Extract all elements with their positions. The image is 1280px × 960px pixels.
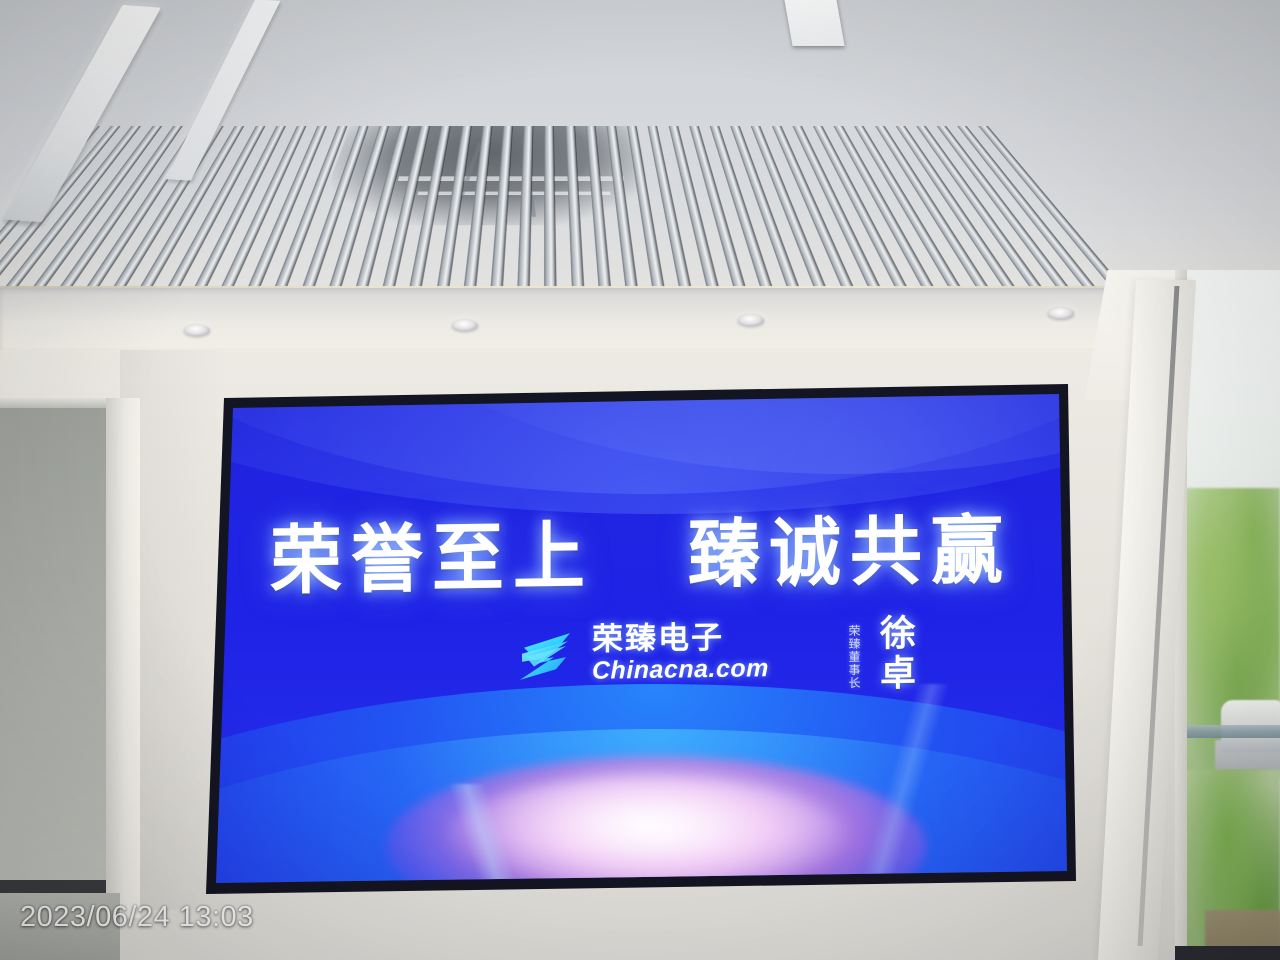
signature-title: 荣臻董事长 — [846, 624, 863, 689]
doorway-header — [0, 398, 120, 408]
chairman-signature: 荣臻董事长 徐卓 — [846, 613, 921, 694]
recessed-downlight-icon — [184, 325, 210, 336]
chinacna-z-mark-icon — [516, 623, 578, 686]
slogan-right: 臻诚共赢 — [688, 509, 1012, 597]
ceiling-duct — [417, 192, 610, 195]
screen-slogan: 荣誉至上 臻诚共赢 — [206, 487, 1076, 609]
doorway-jamb — [106, 398, 140, 918]
ceiling-soffit — [0, 288, 1180, 350]
window-sill — [1175, 946, 1280, 960]
ceiling — [0, 0, 1280, 300]
ceiling-panel-icon — [783, 0, 844, 46]
window-mullion — [1175, 725, 1280, 738]
brand-lockup: 荣臻电子 Chinacna.com — [516, 620, 769, 686]
slogan-left: 荣誉至上 — [270, 515, 594, 603]
recessed-downlight-icon — [738, 315, 764, 326]
recessed-downlight-icon — [452, 320, 478, 331]
brand-name-cn: 荣臻电子 — [592, 621, 769, 655]
brand-text: 荣臻电子 Chinacna.com — [592, 621, 769, 684]
photo-timestamp: 2023/06/24 13:03 — [20, 901, 254, 934]
slogan-gap — [621, 581, 661, 582]
photo-scene: 荣誉至上 臻诚共赢 — [0, 0, 1280, 960]
screen-face: 荣誉至上 臻诚共赢 — [206, 384, 1076, 894]
screen-light-streak — [726, 684, 1076, 874]
brand-name-en: Chinacna.com — [592, 656, 769, 684]
signature-name: 徐卓 — [869, 613, 921, 694]
led-video-wall[interactable]: 荣誉至上 臻诚共赢 — [206, 384, 1076, 894]
recessed-downlight-icon — [1048, 308, 1074, 319]
